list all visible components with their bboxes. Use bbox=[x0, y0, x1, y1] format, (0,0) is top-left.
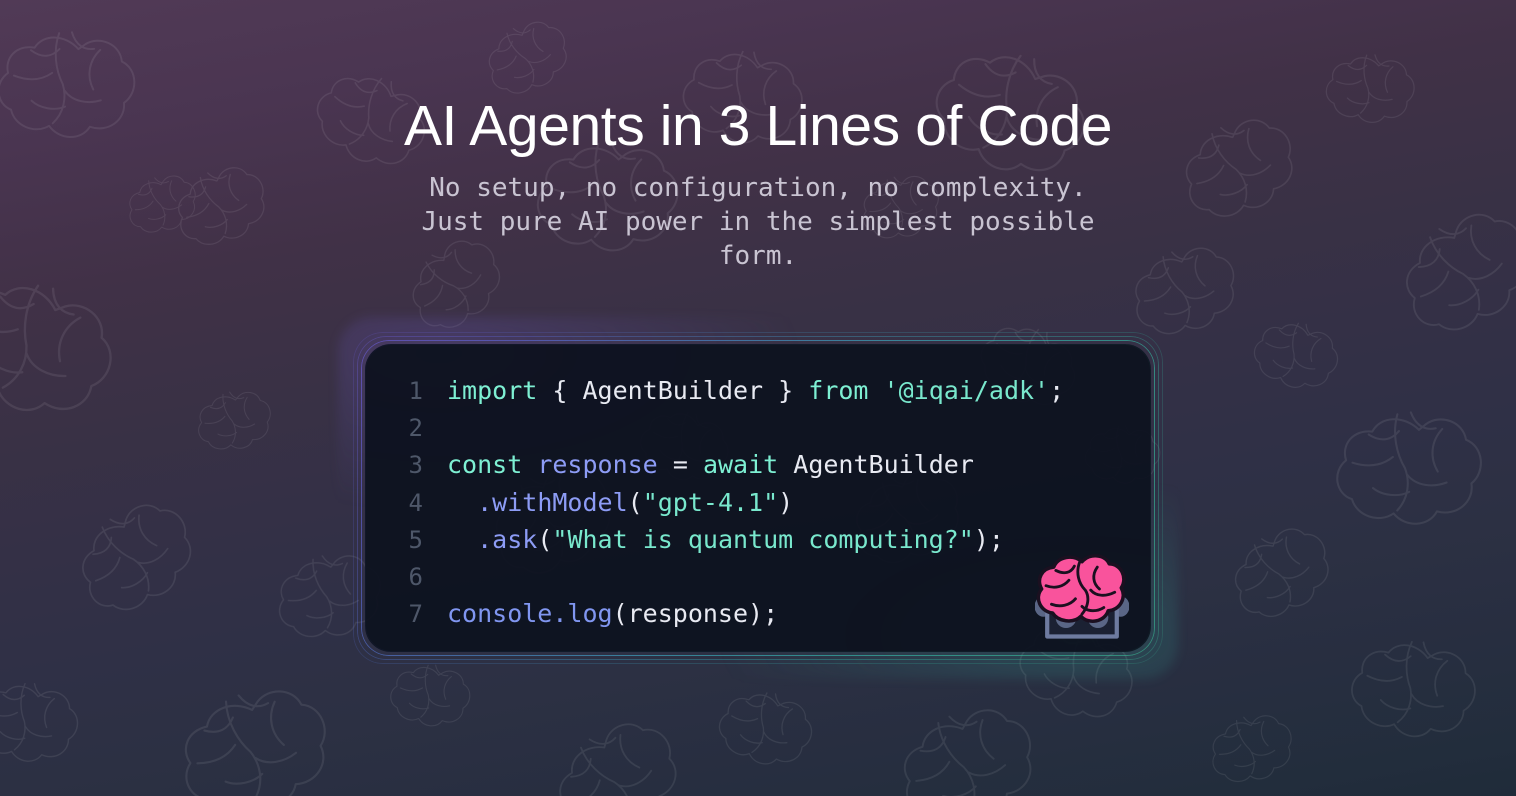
code-token: (response); bbox=[613, 599, 779, 628]
line-number: 3 bbox=[365, 447, 423, 484]
code-token bbox=[537, 376, 552, 405]
code-token bbox=[778, 450, 793, 479]
code-line: 3const response = await AgentBuilder bbox=[365, 446, 1151, 483]
code-line: 1import { AgentBuilder } from '@iqai/adk… bbox=[365, 372, 1151, 409]
code-token: ( bbox=[537, 525, 552, 554]
line-number: 1 bbox=[365, 373, 423, 410]
code-token: '@iqai/adk' bbox=[884, 376, 1050, 405]
code-token: console.log bbox=[447, 599, 613, 628]
code-token: .withModel bbox=[477, 488, 628, 517]
code-panel-surface: 1import { AgentBuilder } from '@iqai/adk… bbox=[365, 344, 1151, 652]
code-token bbox=[522, 450, 537, 479]
code-token: { AgentBuilder } bbox=[552, 376, 793, 405]
code-panel: 1import { AgentBuilder } from '@iqai/adk… bbox=[352, 331, 1164, 665]
slide-root: AI Agents in 3 Lines of Code No setup, n… bbox=[0, 0, 1516, 796]
code-token: ) bbox=[778, 488, 793, 517]
page-title: AI Agents in 3 Lines of Code bbox=[0, 96, 1516, 156]
code-token: = bbox=[673, 450, 688, 479]
code-line: 7console.log(response); bbox=[365, 595, 1151, 632]
line-number: 7 bbox=[365, 596, 423, 633]
line-number: 4 bbox=[365, 485, 423, 522]
code-line: 4 .withModel("gpt-4.1") bbox=[365, 484, 1151, 521]
page-subtitle: No setup, no configuration, no complexit… bbox=[408, 172, 1108, 273]
code-token: await bbox=[703, 450, 778, 479]
code-token: AgentBuilder bbox=[793, 450, 974, 479]
code-token: "What is quantum computing?" bbox=[552, 525, 973, 554]
line-number: 5 bbox=[365, 522, 423, 559]
code-token bbox=[447, 525, 477, 554]
code-token: import bbox=[447, 376, 537, 405]
code-token: ( bbox=[628, 488, 643, 517]
line-number: 6 bbox=[365, 559, 423, 596]
code-line: 2 bbox=[365, 409, 1151, 446]
code-token: "gpt-4.1" bbox=[643, 488, 778, 517]
code-token bbox=[447, 488, 477, 517]
hero-header: AI Agents in 3 Lines of Code No setup, n… bbox=[0, 96, 1516, 274]
code-token: ; bbox=[1049, 376, 1064, 405]
code-token bbox=[868, 376, 883, 405]
code-token: .ask bbox=[477, 525, 537, 554]
code-token bbox=[658, 450, 673, 479]
code-token: response bbox=[537, 450, 657, 479]
robot-brain-icon bbox=[1035, 550, 1129, 644]
code-line: 6 bbox=[365, 558, 1151, 595]
line-number: 2 bbox=[365, 410, 423, 447]
code-token bbox=[688, 450, 703, 479]
code-token: from bbox=[808, 376, 868, 405]
code-token: const bbox=[447, 450, 522, 479]
code-block[interactable]: 1import { AgentBuilder } from '@iqai/adk… bbox=[365, 372, 1151, 632]
code-line: 5 .ask("What is quantum computing?"); bbox=[365, 521, 1151, 558]
code-token bbox=[793, 376, 808, 405]
code-token: ); bbox=[974, 525, 1004, 554]
